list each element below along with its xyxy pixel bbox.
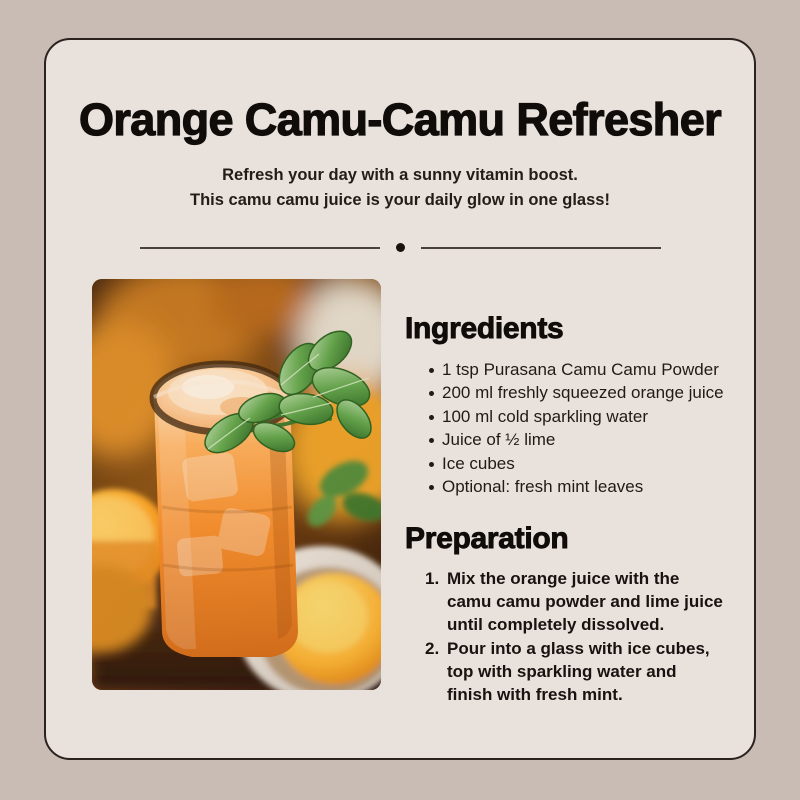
subtitle-line-2: This camu camu juice is your daily glow … xyxy=(46,188,754,213)
page-title: Orange Camu-Camu Refresher xyxy=(46,40,754,143)
card-header: Orange Camu-Camu Refresher Refresh your … xyxy=(46,40,754,213)
subtitle-line-1: Refresh your day with a sunny vitamin bo… xyxy=(46,163,754,188)
list-item: 200 ml freshly squeezed orange juice xyxy=(429,382,725,404)
divider-rule-right xyxy=(421,247,661,249)
list-item: 100 ml cold sparkling water xyxy=(429,406,725,428)
section-divider xyxy=(46,243,754,252)
preparation-list: Mix the orange juice with the camu camu … xyxy=(405,555,725,707)
card-body: Ingredients 1 tsp Purasana Camu Camu Pow… xyxy=(46,279,754,739)
ingredients-list: 1 tsp Purasana Camu Camu Powder 200 ml f… xyxy=(405,345,725,499)
list-item: Mix the orange juice with the camu camu … xyxy=(425,567,725,636)
recipe-photo xyxy=(92,279,381,690)
subtitle: Refresh your day with a sunny vitamin bo… xyxy=(46,143,754,213)
list-item: Pour into a glass with ice cubes, top wi… xyxy=(425,637,725,706)
list-item: 1 tsp Purasana Camu Camu Powder xyxy=(429,359,725,381)
juice-glass-illustration xyxy=(92,279,381,690)
divider-rule-left xyxy=(140,247,380,249)
list-item: Ice cubes xyxy=(429,453,725,475)
preparation-heading: Preparation xyxy=(405,500,725,555)
ingredients-heading: Ingredients xyxy=(405,279,725,345)
list-item: Optional: fresh mint leaves xyxy=(429,476,725,498)
list-item: Juice of ½ lime xyxy=(429,429,725,451)
recipe-text-column: Ingredients 1 tsp Purasana Camu Camu Pow… xyxy=(405,279,725,707)
recipe-card: Orange Camu-Camu Refresher Refresh your … xyxy=(44,38,756,760)
divider-dot-icon xyxy=(396,243,405,252)
recipe-poster: Orange Camu-Camu Refresher Refresh your … xyxy=(0,0,800,800)
